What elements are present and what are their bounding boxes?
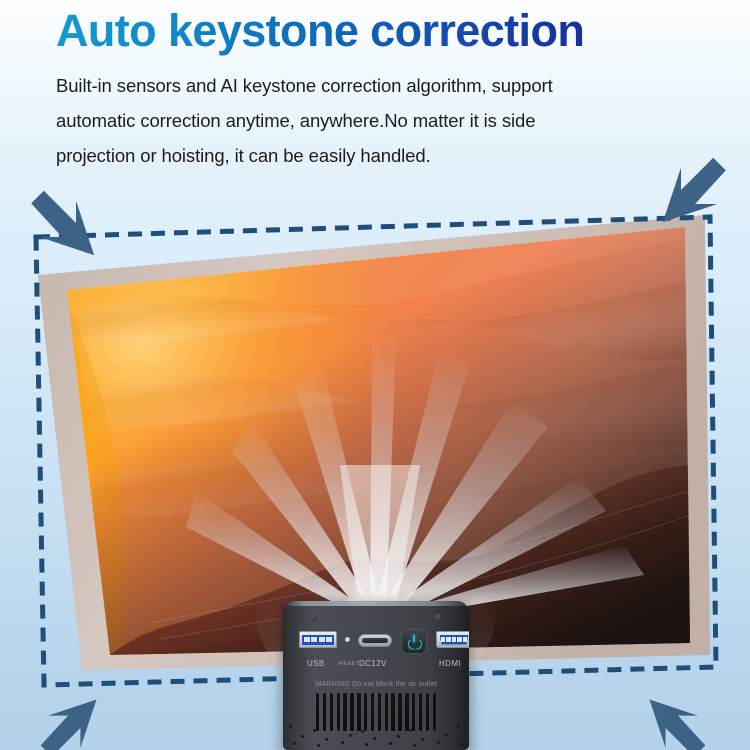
speaker-hole — [385, 726, 388, 729]
speaker-hole — [413, 744, 416, 747]
usb-connector-icon — [302, 635, 334, 645]
speaker-hole — [457, 725, 460, 728]
air-outlet-warning-text: WARNING Do not block the air outlet — [283, 681, 469, 688]
description-line-2: automatic correction anytime, anywhere.N… — [56, 103, 696, 138]
reset-pinhole[interactable] — [345, 637, 350, 642]
projector-body: USB RESET DC12V HDMI WARNING Do not bloc… — [283, 601, 469, 750]
usb-port-label: USB — [307, 659, 325, 668]
speaker-hole — [337, 727, 340, 730]
speaker-hole — [313, 729, 316, 732]
speaker-hole — [373, 737, 376, 740]
power-button[interactable] — [401, 629, 427, 654]
speaker-hole — [397, 735, 400, 738]
projector-top-edge — [283, 601, 469, 606]
speaker-hole — [349, 734, 352, 737]
arrow-down-left-icon — [660, 155, 730, 225]
arrow-up-right-icon — [35, 697, 101, 750]
port-row — [283, 629, 469, 659]
speaker-hole — [409, 729, 412, 732]
dc-power-label: DC12V — [359, 659, 387, 668]
speaker-hole — [365, 743, 368, 746]
speaker-hole — [317, 744, 320, 747]
mini-projector: USB RESET DC12V HDMI WARNING Do not bloc… — [283, 601, 469, 750]
speaker-hole — [293, 742, 296, 745]
speaker-hole — [341, 741, 344, 744]
speaker-hole — [361, 730, 364, 733]
speaker-hole — [325, 738, 328, 741]
screw-icon — [310, 614, 317, 621]
usb-port[interactable] — [299, 631, 337, 648]
hdmi-port-label: HDMI — [439, 659, 461, 668]
speaker-hole — [461, 743, 464, 746]
speaker-hole — [445, 734, 448, 737]
speaker-hole — [437, 741, 440, 744]
dc-power-port[interactable] — [358, 634, 392, 647]
speaker-hole — [289, 725, 292, 728]
hdmi-connector-icon — [440, 635, 469, 645]
speaker-hole — [389, 742, 392, 745]
speaker-hole — [421, 738, 424, 741]
speaker-hole — [301, 735, 304, 738]
power-icon — [408, 636, 420, 648]
screw-icon — [435, 614, 442, 621]
description-line-1: Built-in sensors and AI keystone correct… — [56, 68, 696, 103]
speaker-hole — [433, 727, 436, 730]
description-paragraph: Built-in sensors and AI keystone correct… — [56, 68, 696, 173]
arrow-down-right-icon — [27, 188, 97, 258]
speaker-dot-grid — [283, 725, 469, 747]
port-labels: USB RESET DC12V HDMI — [283, 659, 469, 671]
arrow-up-left-icon — [645, 697, 711, 750]
description-line-3: projection or hoisting, it can be easily… — [56, 138, 696, 173]
reset-label: RESET — [339, 661, 359, 667]
keystone-correction-poster: Auto keystone correction Built-in sensor… — [0, 0, 750, 750]
hdmi-port[interactable] — [436, 631, 469, 648]
page-title: Auto keystone correction — [56, 6, 716, 56]
